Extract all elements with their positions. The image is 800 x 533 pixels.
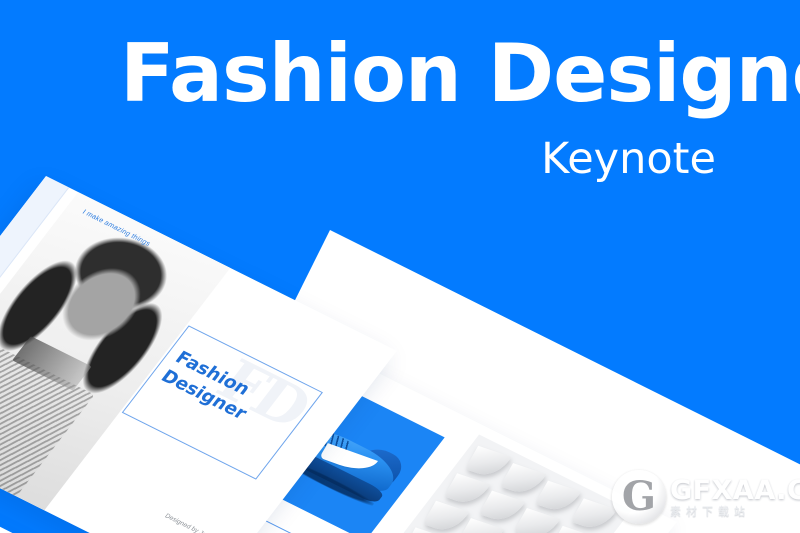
site-watermark: G GFXAA.COM 素材下载站 [612,470,800,524]
page-subtitle: Keynote [541,138,716,181]
gfxaa-logo-icon: G [612,470,666,524]
slide-credit: Designed by Junozh [163,513,220,533]
watermark-site: GFXAA.COM [670,477,800,504]
page-title: Fashion Designer [120,34,800,114]
sneaker-illustration [0,529,4,533]
watermark-subtext: 素材下载站 [670,507,800,518]
poster-canvas: Keynote Theme. Fashion Designer [0,0,800,533]
